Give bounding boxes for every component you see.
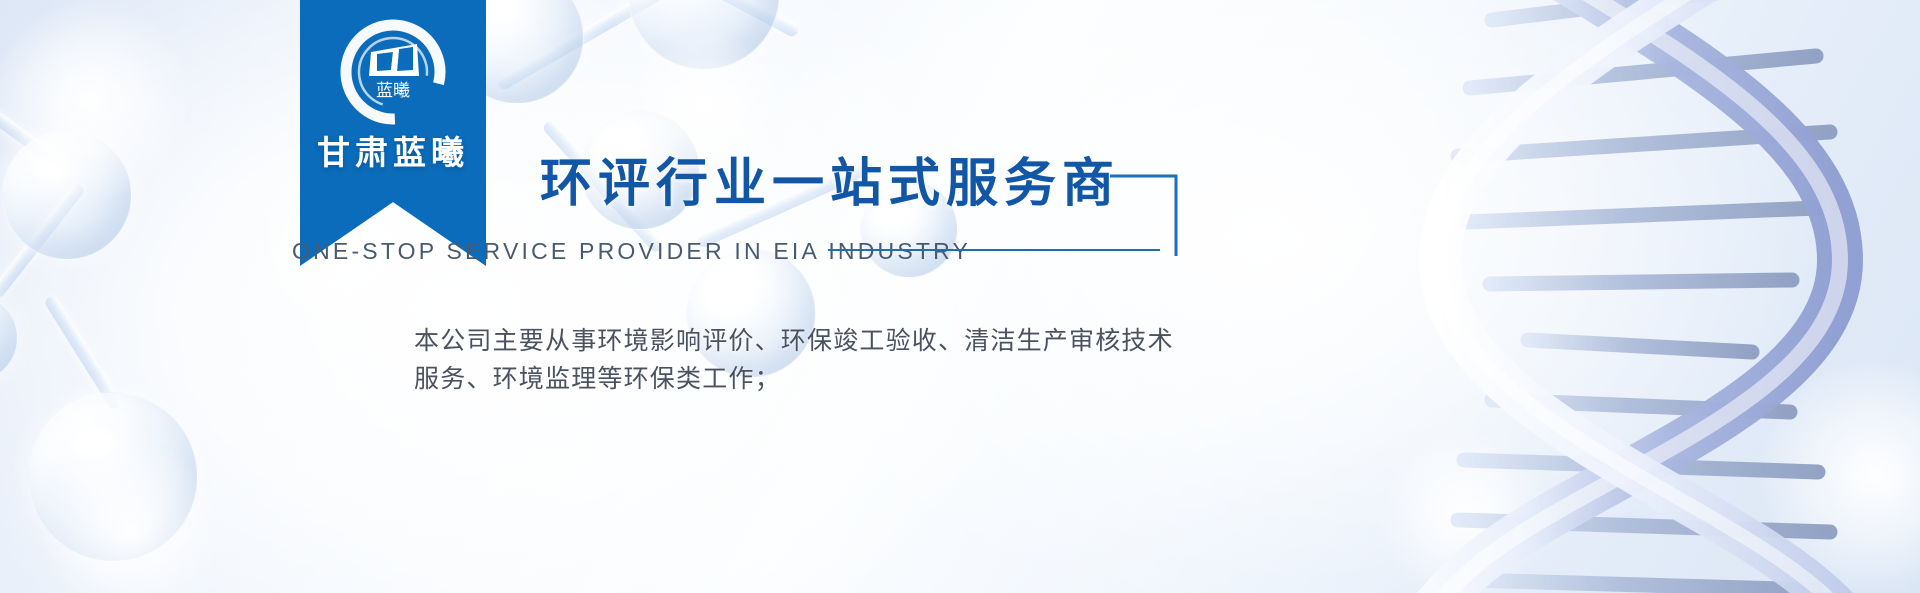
molecule-bond [0, 73, 67, 172]
molecule-atom [28, 392, 198, 562]
molecule-atom [628, 0, 780, 70]
description-line-1: 本公司主要从事环境影响评价、环保竣工验收、清洁生产审核技术 [414, 322, 1174, 360]
molecule-bond [0, 181, 86, 299]
company-short-name: 甘肃蓝曦 [300, 126, 486, 174]
glow-spot [0, 0, 190, 200]
logo-mark-text: 蓝曦 [376, 81, 410, 101]
description-block: 本公司主要从事环境影响评价、环保竣工验收、清洁生产审核技术 服务、环境监理等环保… [414, 322, 1174, 398]
headline-english: ONE-STOP SERVICE PROVIDER IN EIA INDUSTR… [292, 238, 971, 265]
subtitle-rule [828, 249, 1160, 251]
headline-chinese: 环评行业一站式服务商 [540, 141, 1120, 216]
glow-spot [1380, 430, 1550, 593]
hero-banner: 蓝曦 甘肃蓝曦 环评行业一站式服务商 ONE-STOP SERVICE PROV… [0, 0, 1920, 593]
molecule-bond [495, 0, 666, 92]
molecule-atom [0, 294, 18, 382]
company-logo-icon: 蓝曦 [333, 14, 453, 134]
description-line-2: 服务、环境监理等环保类工作； [414, 360, 1174, 398]
molecule-bond [43, 294, 123, 411]
dna-helix-decoration [1140, 0, 1920, 593]
glow-spot [40, 440, 220, 593]
company-ribbon-badge: 蓝曦 甘肃蓝曦 [300, 0, 486, 266]
molecule-atom [2, 130, 132, 260]
bracket-accent-icon [1110, 170, 1180, 256]
glow-spot [1760, 360, 1920, 590]
molecule-bond [635, 0, 800, 38]
